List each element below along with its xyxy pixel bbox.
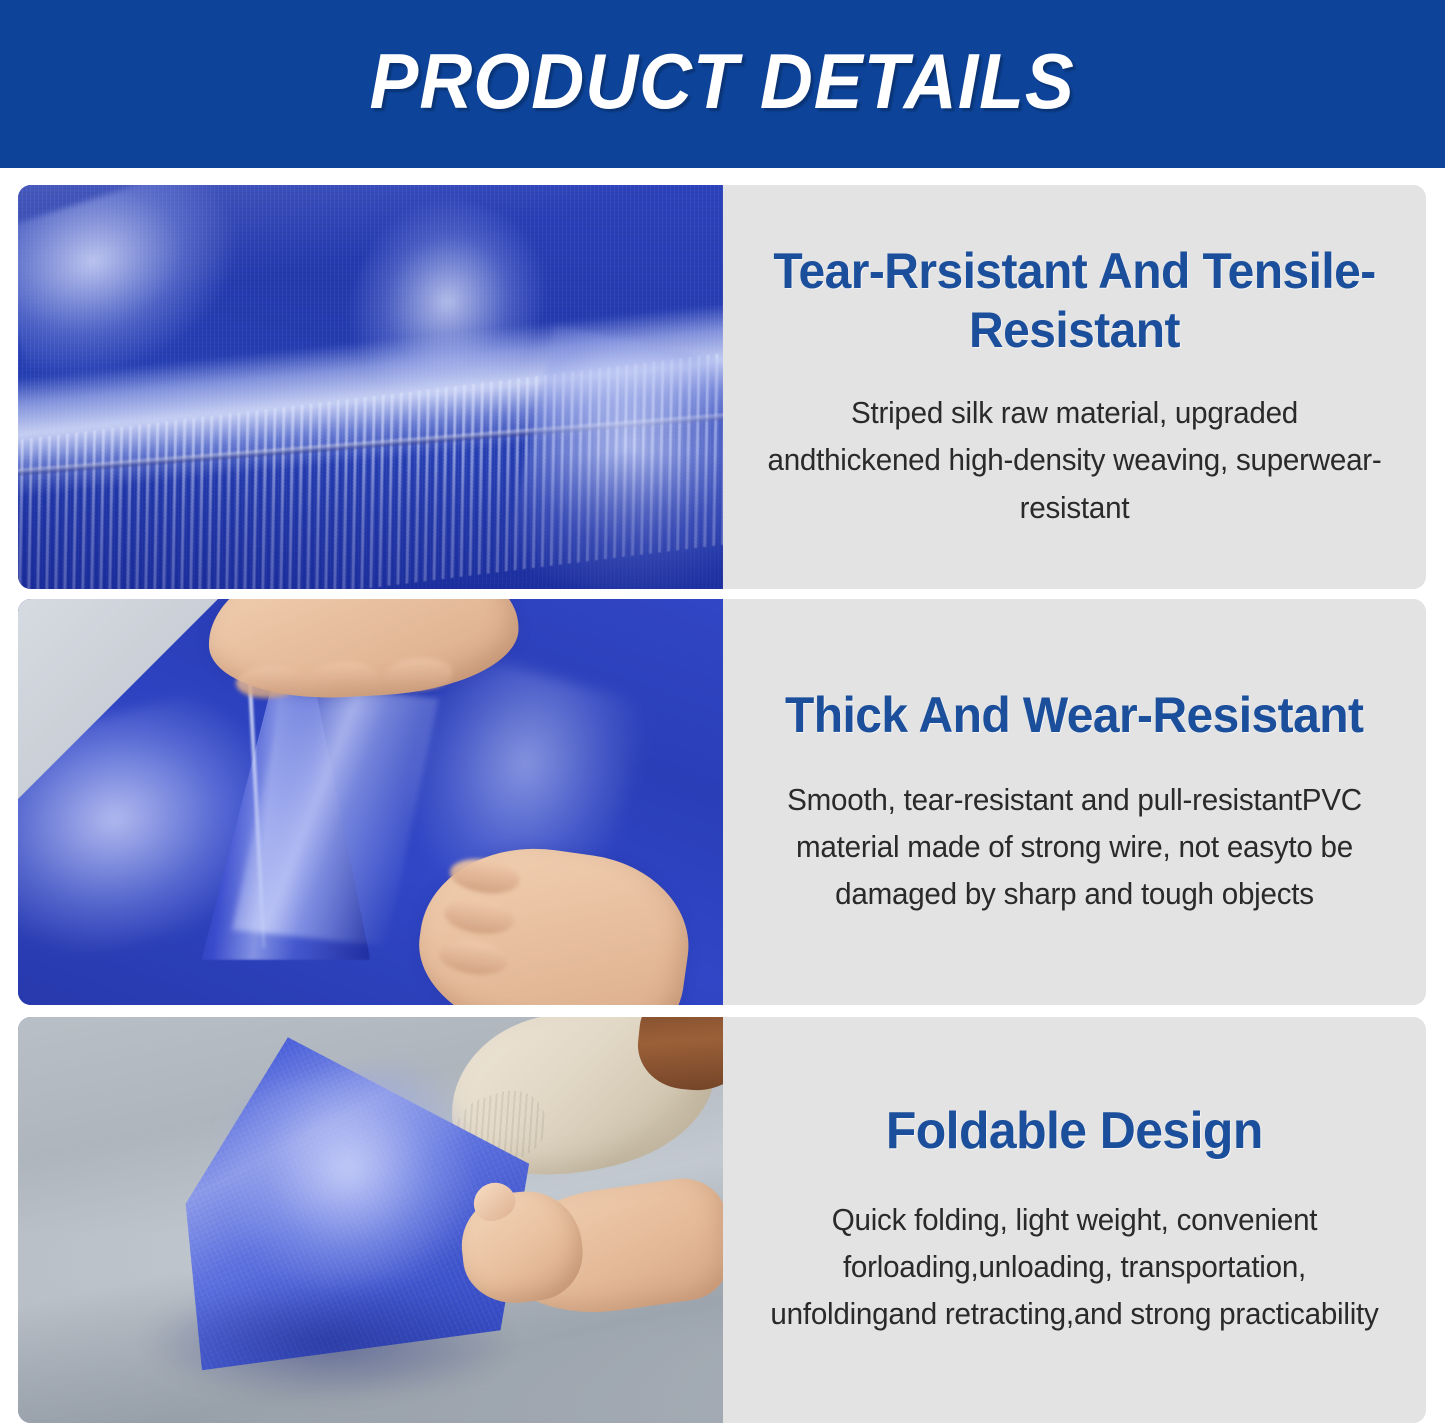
product-details-page: PRODUCT DETAILS Tear-Rrsistant And Tensi…	[0, 0, 1445, 1427]
feature-title: Foldable Design	[886, 1101, 1263, 1162]
feature-text-panel: Tear-Rrsistant And Tensile-Resistant Str…	[723, 185, 1426, 589]
feature-description: Smooth, tear-resistant and pull-resistan…	[767, 777, 1383, 919]
feature-image-tarpaulin-closeup	[18, 185, 723, 589]
feature-title: Tear-Rrsistant And Tensile-Resistant	[770, 242, 1380, 360]
feature-image-hands-stretching	[18, 599, 723, 1005]
feature-card: Tear-Rrsistant And Tensile-Resistant Str…	[18, 185, 1426, 589]
feature-description: Striped silk raw material, upgraded andt…	[767, 390, 1383, 532]
image-layer-shadow	[18, 452, 723, 589]
feature-text-panel: Thick And Wear-Resistant Smooth, tear-re…	[723, 599, 1426, 1005]
feature-title: Thick And Wear-Resistant	[785, 686, 1363, 745]
image-layer-highlight	[213, 1055, 486, 1305]
page-header-banner: PRODUCT DETAILS	[0, 0, 1445, 168]
feature-card: Foldable Design Quick folding, light wei…	[18, 1017, 1426, 1423]
feature-card: Thick And Wear-Resistant Smooth, tear-re…	[18, 599, 1426, 1005]
feature-description: Quick folding, light weight, convenient …	[767, 1197, 1383, 1339]
feature-image-folded-tarpaulin	[18, 1017, 723, 1423]
image-layer-shadow	[145, 1285, 512, 1399]
feature-text-panel: Foldable Design Quick folding, light wei…	[723, 1017, 1426, 1423]
page-title: PRODUCT DETAILS	[370, 42, 1075, 126]
